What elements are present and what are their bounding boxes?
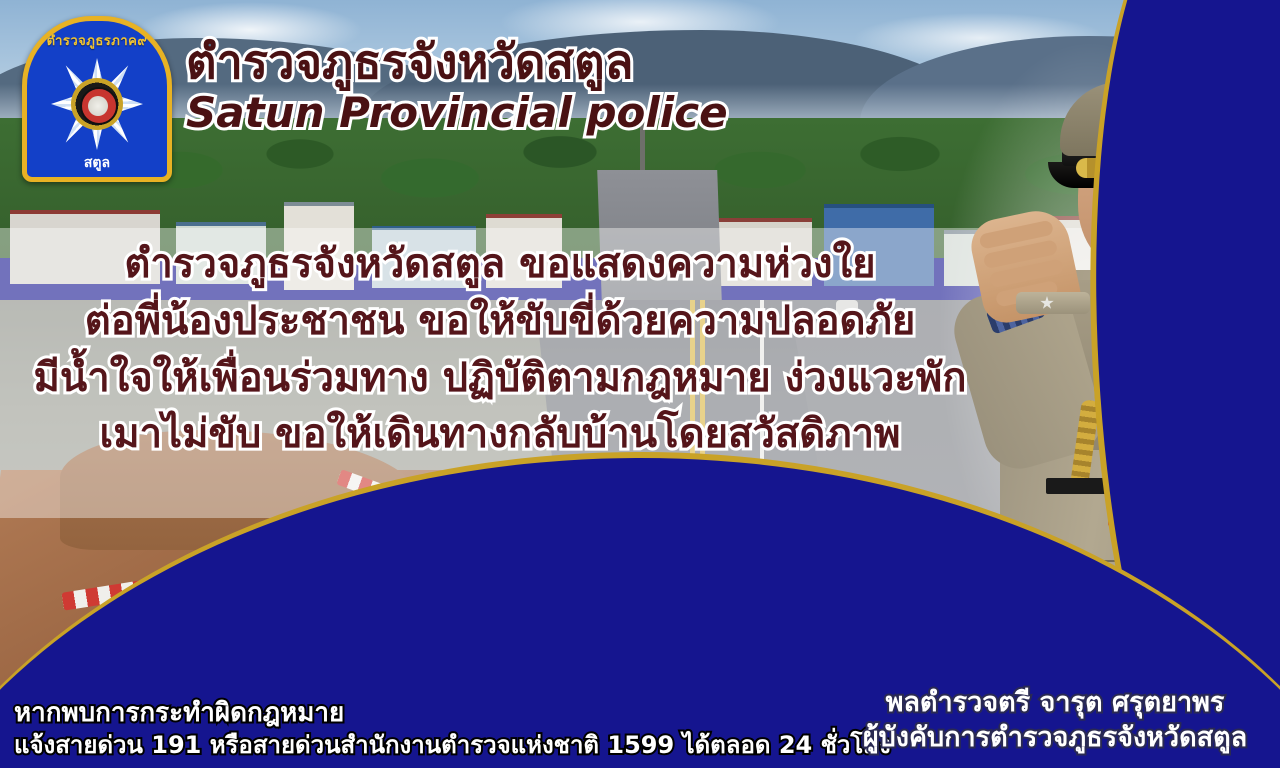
message-line: ตำรวจภูธรจังหวัดสตูล ขอแสดงความห่วงใย <box>0 236 1000 293</box>
commander-signature-block: พลตำรวจตรี จารุต ศรุตยาพร ผู้บังคับการตำ… <box>840 685 1270 756</box>
hotline-line-2: แจ้งสายด่วน 191 หรือสายด่วนสำนักงานตำรวจ… <box>14 730 894 762</box>
epaulet-left <box>1016 292 1090 314</box>
badge-top-label: ตำรวจภูธรภาค๙ <box>22 30 172 51</box>
message-line: ต่อพี่น้องประชาชน ขอให้ขับขี่ด้วยความปลอ… <box>0 293 1000 350</box>
header-title-english: Satun Provincial police <box>186 90 886 136</box>
hotline-info-block: หากพบการกระทำผิดกฎหมาย แจ้งสายด่วน 191 ห… <box>14 696 894 762</box>
badge-bottom-label: สตูล <box>22 152 172 174</box>
message-line: เมาไม่ขับ ขอให้เดินทางกลับบ้านโดยสวัสดิภ… <box>0 406 1000 463</box>
police-badge-emblem: ตำรวจภูธรภาค๙ สตูล <box>22 16 172 182</box>
badge-center-emblem-icon <box>80 87 118 125</box>
header-block: ตำรวจภูธรจังหวัดสตูล Satun Provincial po… <box>186 38 886 136</box>
poster-canvas: ตำรวจภูธรภาค๙ สตูล ตำรวจภูธรจังหวัดสตูล … <box>0 0 1280 768</box>
hotline-line-1: หากพบการกระทำผิดกฎหมาย <box>14 696 894 730</box>
message-line: มีน้ำใจให้เพื่อนร่วมทาง ปฏิบัติตามกฎหมาย… <box>0 350 1000 407</box>
header-title-thai: ตำรวจภูธรจังหวัดสตูล <box>186 38 886 88</box>
name-plate <box>1046 478 1110 494</box>
commander-name: พลตำรวจตรี จารุต ศรุตยาพร <box>840 685 1270 721</box>
safety-message-block: ตำรวจภูธรจังหวัดสตูล ขอแสดงความห่วงใย ต่… <box>0 236 1000 463</box>
commander-position: ผู้บังคับการตำรวจภูธรจังหวัดสตูล <box>840 720 1270 756</box>
